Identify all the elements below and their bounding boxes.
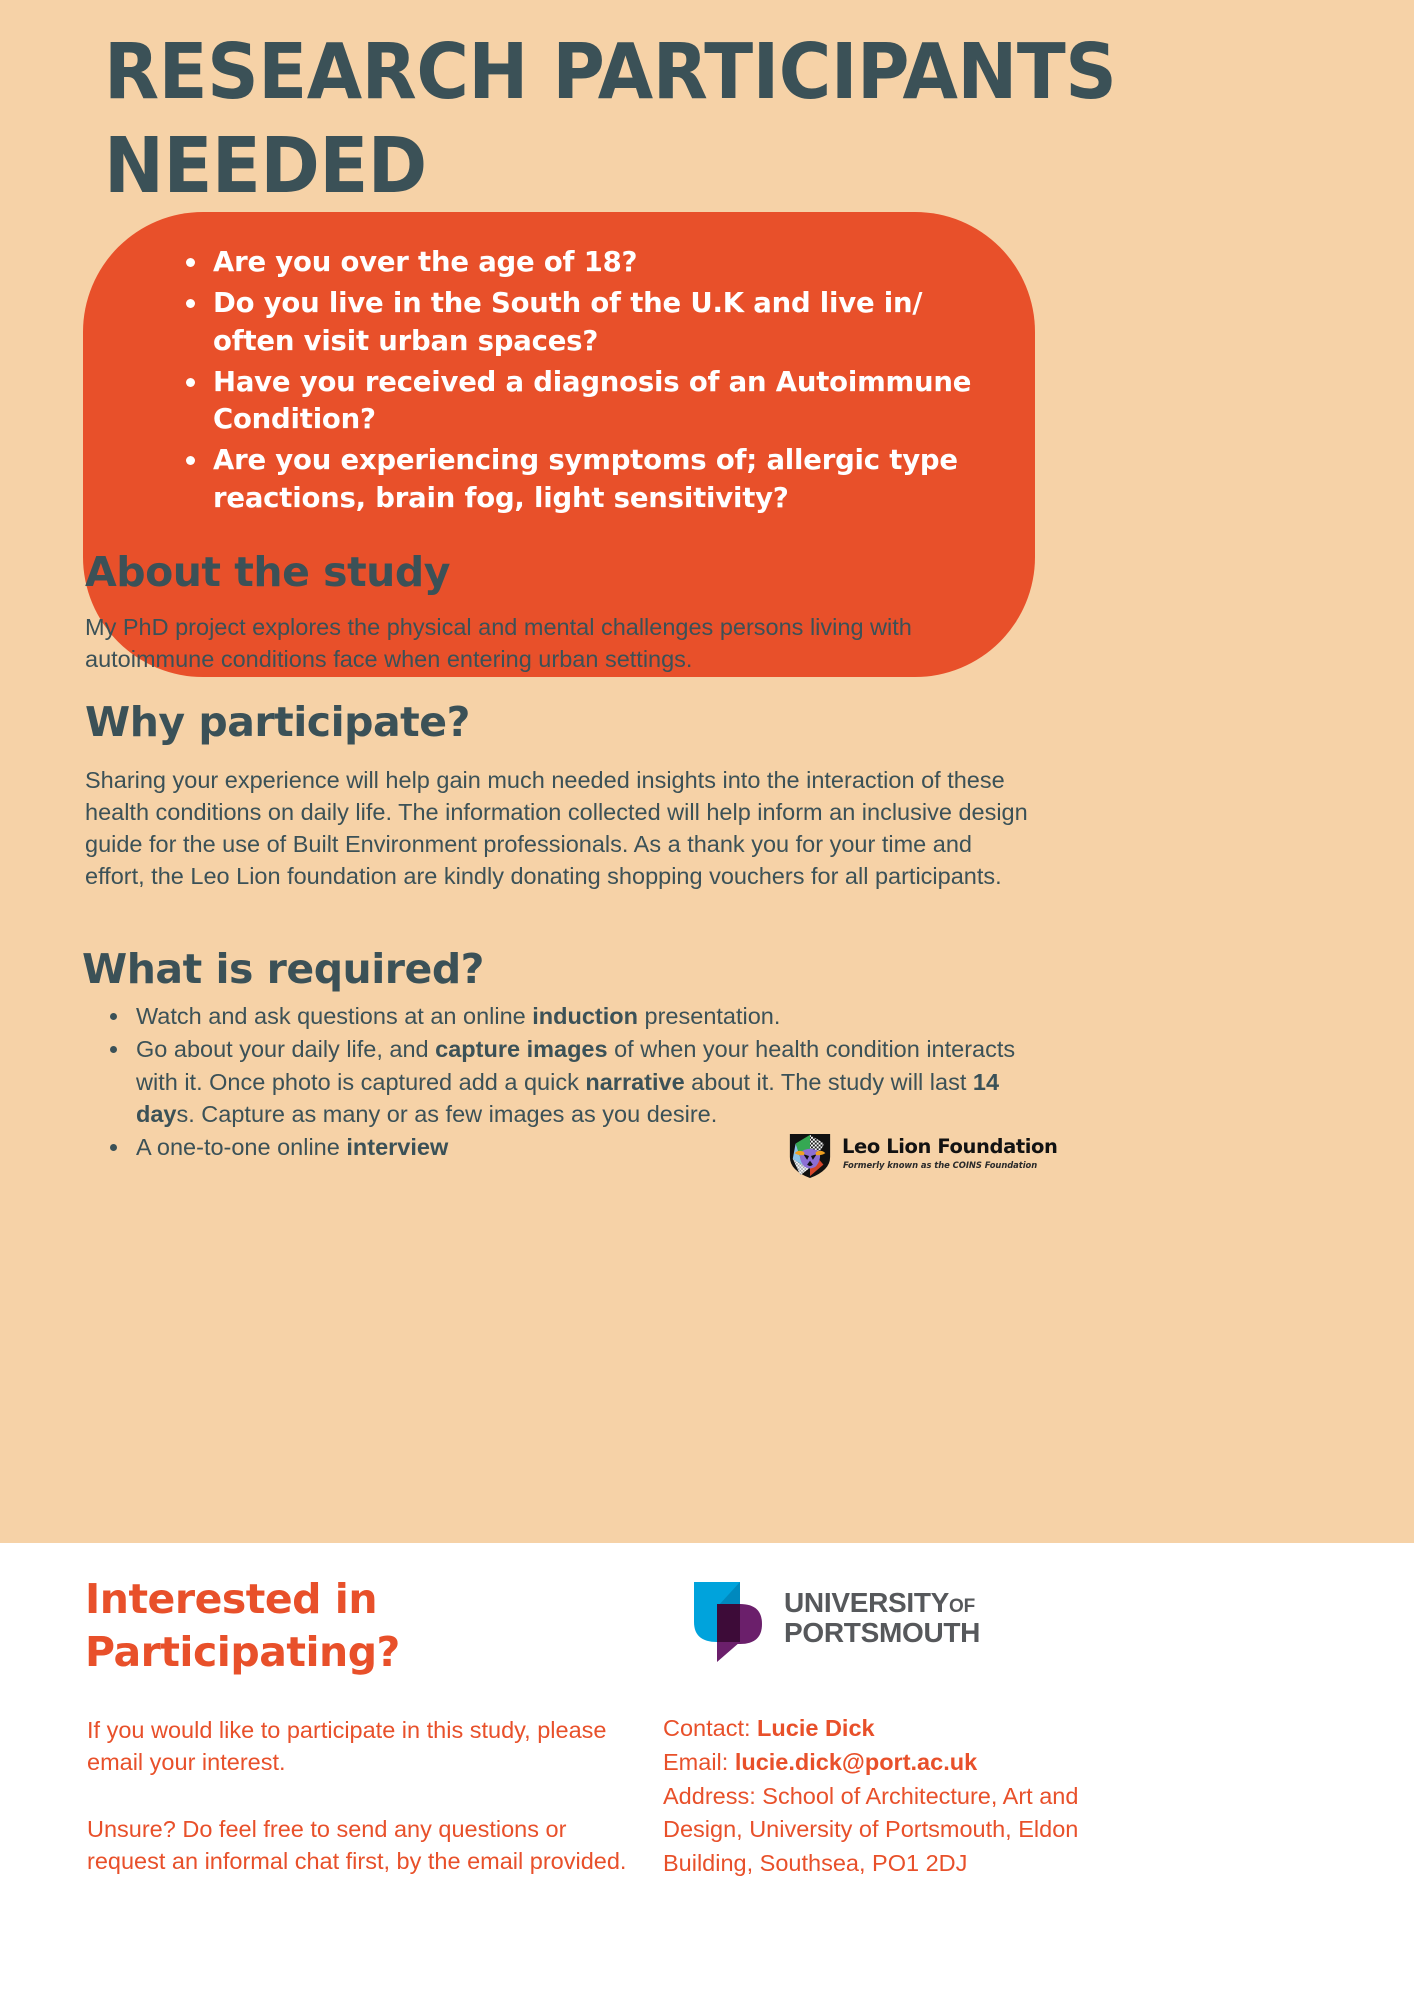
interested-body: If you would like to participate in this… xyxy=(87,1714,632,1878)
required-item-text: Watch and ask questions at an online xyxy=(136,1003,532,1029)
required-item-text: presentation. xyxy=(638,1003,780,1029)
required-item-emphasis: interview xyxy=(346,1134,448,1160)
contact-name-line: Contact: Lucie Dick xyxy=(663,1712,1113,1746)
about-body-text: My PhD project explores the physical and… xyxy=(85,612,1015,676)
required-item: A one-to-one online interview xyxy=(100,1131,1035,1163)
uop-mark-icon xyxy=(684,1578,774,1663)
contact-address-line: Address: School of Architecture, Art and… xyxy=(663,1780,1113,1881)
email-address[interactable]: lucie.dick@port.ac.uk xyxy=(735,1749,977,1775)
eligibility-callout: Are you over the age of 18?Do you live i… xyxy=(83,212,1035,677)
required-item-emphasis: narrative xyxy=(585,1069,684,1095)
interested-heading: Interested in Participating? xyxy=(85,1573,555,1680)
required-item-emphasis: capture images xyxy=(435,1036,607,1062)
uop-line-2: PORTSMOUTH xyxy=(784,1618,980,1648)
section-heading-required: What is required? xyxy=(82,945,484,993)
eligibility-item: Are you experiencing symptoms of; allerg… xyxy=(213,442,989,517)
required-item: Watch and ask questions at an online ind… xyxy=(100,1000,1035,1032)
contact-name: Lucie Dick xyxy=(757,1715,875,1741)
page-title: Research Participants Needed xyxy=(104,26,1248,214)
interested-paragraph-2: Unsure? Do feel free to send any questio… xyxy=(87,1813,632,1878)
required-item-emphasis: induction xyxy=(532,1003,638,1029)
required-item-text: A one-to-one online xyxy=(136,1134,346,1160)
eligibility-item: Have you received a diagnosis of an Auto… xyxy=(213,364,989,439)
uop-line-1-small: OF xyxy=(949,1596,975,1617)
eligibility-list: Are you over the age of 18?Do you live i… xyxy=(175,244,989,517)
email-label: Email: xyxy=(663,1749,735,1775)
why-body-text: Sharing your experience will help gain m… xyxy=(85,765,1030,893)
university-of-portsmouth-logo: UNIVERSITYOF PORTSMOUTH xyxy=(684,1578,1014,1663)
required-item-text: s. Capture as many or as few images as y… xyxy=(177,1101,718,1127)
required-item: Go about your daily life, and capture im… xyxy=(100,1033,1035,1130)
eligibility-item: Do you live in the South of the U.K and … xyxy=(213,285,989,360)
section-heading-why: Why participate? xyxy=(85,698,470,746)
address-label: Address: xyxy=(663,1783,762,1809)
section-heading-about: About the study xyxy=(85,548,450,596)
contact-email-line[interactable]: Email: lucie.dick@port.ac.uk xyxy=(663,1746,1113,1780)
poster-root: Research Participants Needed Are you ove… xyxy=(0,0,1414,2000)
required-item-text: Go about your daily life, and xyxy=(136,1036,435,1062)
contact-label: Contact: xyxy=(663,1715,757,1741)
uop-line-1: UNIVERSITY xyxy=(784,1587,949,1618)
contact-block: Contact: Lucie Dick Email: lucie.dick@po… xyxy=(663,1712,1113,1881)
eligibility-item: Are you over the age of 18? xyxy=(213,244,989,281)
required-list: Watch and ask questions at an online ind… xyxy=(100,1000,1035,1165)
uop-wordmark: UNIVERSITYOF PORTSMOUTH xyxy=(784,1588,980,1648)
interested-paragraph-1: If you would like to participate in this… xyxy=(87,1714,632,1779)
required-item-text: about it. The study will last xyxy=(685,1069,973,1095)
